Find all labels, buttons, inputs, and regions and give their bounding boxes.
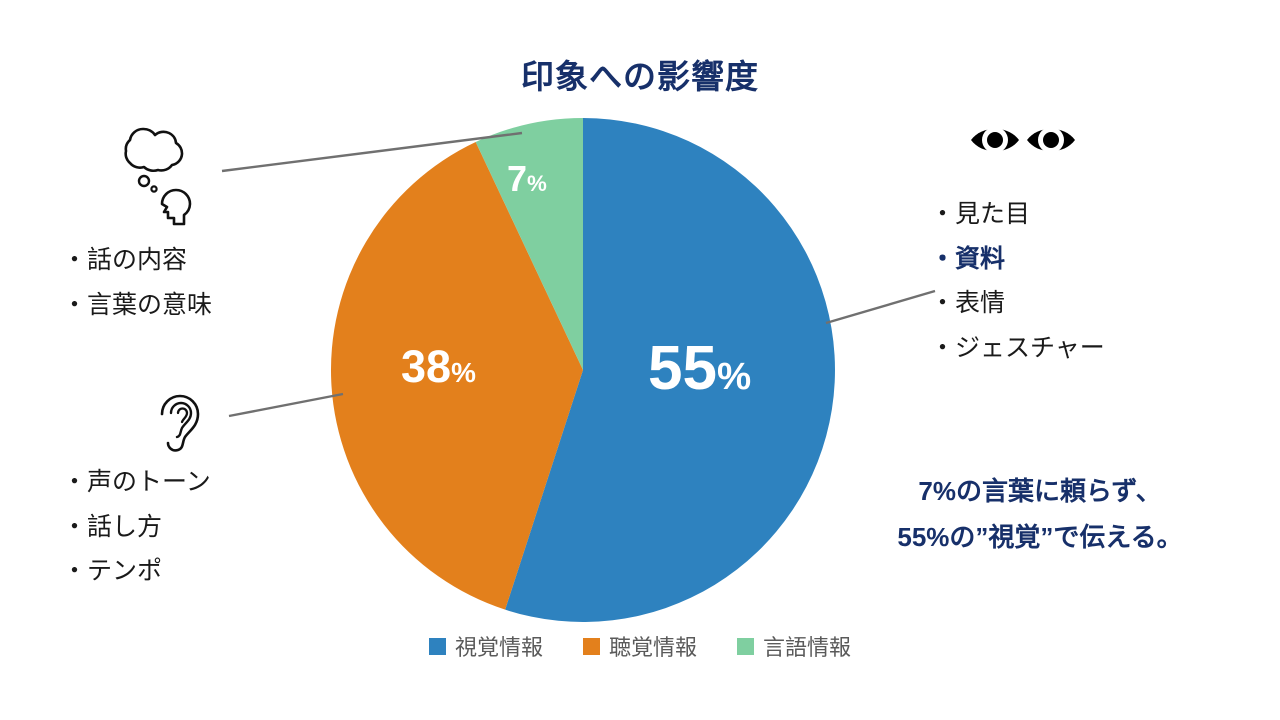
list-item: ・見た目 <box>930 192 1105 237</box>
leader-line-visual <box>826 291 935 323</box>
list-bullet: ・ <box>930 245 955 273</box>
legend-item-verbal[interactable]: 言語情報 <box>737 630 851 662</box>
list-verbal-items: ・話の内容 ・言葉の意味 <box>62 238 212 327</box>
pie-label-visual: 55% <box>648 338 751 400</box>
pie-label-auditory-number: 38 <box>401 341 451 392</box>
list-item-highlighted: ・資料 <box>930 237 1105 282</box>
legend-swatch-auditory <box>583 638 600 655</box>
list-auditory-items: ・声のトーン ・話し方 ・テンポ <box>62 460 211 594</box>
list-bullet: ・ <box>62 468 87 496</box>
conclusion-line-2: 55%の”視覚”で伝える。 <box>840 514 1240 560</box>
pie-label-verbal-percent: % <box>527 171 547 196</box>
list-bullet: ・ <box>62 246 87 274</box>
slide-canvas: 印象への影響度 55% 38% 7% <box>0 0 1280 720</box>
list-bullet: ・ <box>930 334 955 362</box>
list-visual-items: ・見た目 ・資料 ・表情 ・ジェスチャー <box>930 192 1105 370</box>
thought-bubble-icon <box>100 118 210 233</box>
legend-swatch-visual <box>429 638 446 655</box>
legend-label-auditory: 聴覚情報 <box>609 630 697 662</box>
legend-item-visual[interactable]: 視覚情報 <box>429 630 543 662</box>
pie-label-verbal: 7% <box>507 161 547 197</box>
list-bullet: ・ <box>62 291 87 319</box>
conclusion-line-1: 7%の言葉に頼らず、 <box>840 468 1240 514</box>
list-bullet: ・ <box>930 200 955 228</box>
list-item: ・話の内容 <box>62 238 212 283</box>
list-item-label: 言葉の意味 <box>87 291 212 319</box>
list-item-label: テンポ <box>87 557 162 585</box>
pie-label-verbal-number: 7 <box>507 158 527 199</box>
list-bullet: ・ <box>62 513 87 541</box>
conclusion-message: 7%の言葉に頼らず、 55%の”視覚”で伝える。 <box>840 468 1240 561</box>
legend-label-visual: 視覚情報 <box>455 630 543 662</box>
list-item-label: 見た目 <box>955 200 1030 228</box>
list-bullet: ・ <box>930 289 955 317</box>
list-item-label: 話の内容 <box>87 246 187 274</box>
list-item-label: 声のトーン <box>87 468 211 496</box>
list-item: ・言葉の意味 <box>62 283 212 328</box>
pie-label-auditory: 38% <box>401 344 476 389</box>
eyes-icon <box>968 118 1078 169</box>
legend-label-verbal: 言語情報 <box>763 630 851 662</box>
pie-label-visual-number: 55 <box>648 334 717 403</box>
list-item-label: 表情 <box>955 289 1005 317</box>
chart-legend: 視覚情報 聴覚情報 言語情報 <box>0 630 1280 662</box>
pie-label-visual-percent: % <box>717 355 751 398</box>
list-bullet: ・ <box>62 557 87 585</box>
list-item: ・テンポ <box>62 549 211 594</box>
ear-icon <box>145 382 215 467</box>
list-item-label: ジェスチャー <box>955 334 1105 362</box>
pie-label-auditory-percent: % <box>451 357 476 388</box>
leader-line-auditory <box>229 394 343 416</box>
list-item: ・声のトーン <box>62 460 211 505</box>
list-item-label: 話し方 <box>87 513 162 541</box>
legend-item-auditory[interactable]: 聴覚情報 <box>583 630 697 662</box>
list-item: ・ジェスチャー <box>930 326 1105 371</box>
list-item: ・表情 <box>930 281 1105 326</box>
list-item-label: 資料 <box>955 245 1005 273</box>
legend-swatch-verbal <box>737 638 754 655</box>
list-item: ・話し方 <box>62 505 211 550</box>
